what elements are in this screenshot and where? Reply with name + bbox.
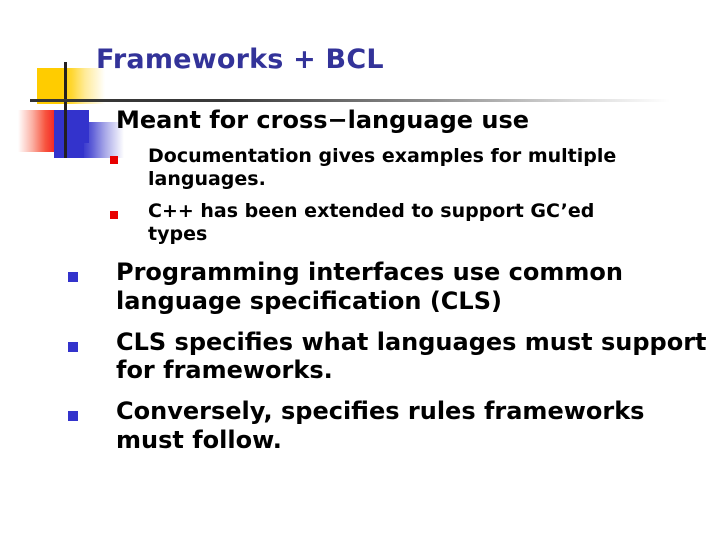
bullet-item: Programming interfaces use common langua… bbox=[0, 258, 719, 316]
bullet-text: Programming interfaces use common langua… bbox=[78, 258, 719, 316]
bullet-text: Conversely, specifies rules frameworks m… bbox=[78, 397, 719, 455]
square-bullet-red-icon bbox=[110, 211, 118, 219]
slide-title: Frameworks + BCL bbox=[96, 44, 384, 75]
bullet-item: Meant for cross−language use bbox=[0, 106, 719, 135]
slide-body: Meant for cross−language use Documentati… bbox=[0, 106, 719, 457]
bullet-item: CLS specifies what languages must suppor… bbox=[0, 328, 719, 386]
bullet-item: Documentation gives examples for multipl… bbox=[0, 145, 719, 191]
square-bullet-blue-icon bbox=[68, 272, 78, 282]
bullet-text: CLS specifies what languages must suppor… bbox=[78, 328, 719, 386]
title-divider-rule bbox=[30, 99, 670, 102]
square-bullet-red-icon bbox=[110, 156, 118, 164]
square-bullet-blue-icon bbox=[68, 120, 78, 130]
bullet-item: Conversely, specifies rules frameworks m… bbox=[0, 397, 719, 455]
bullet-text: Meant for cross−language use bbox=[78, 106, 719, 135]
bullet-item: C++ has been extended to support GC’ed t… bbox=[0, 200, 719, 246]
square-bullet-blue-icon bbox=[68, 411, 78, 421]
bullet-text: C++ has been extended to support GC’ed t… bbox=[118, 200, 719, 246]
square-bullet-blue-icon bbox=[68, 342, 78, 352]
slide-canvas: Frameworks + BCL Meant for cross−languag… bbox=[0, 0, 719, 539]
bullet-text: Documentation gives examples for multipl… bbox=[118, 145, 719, 191]
